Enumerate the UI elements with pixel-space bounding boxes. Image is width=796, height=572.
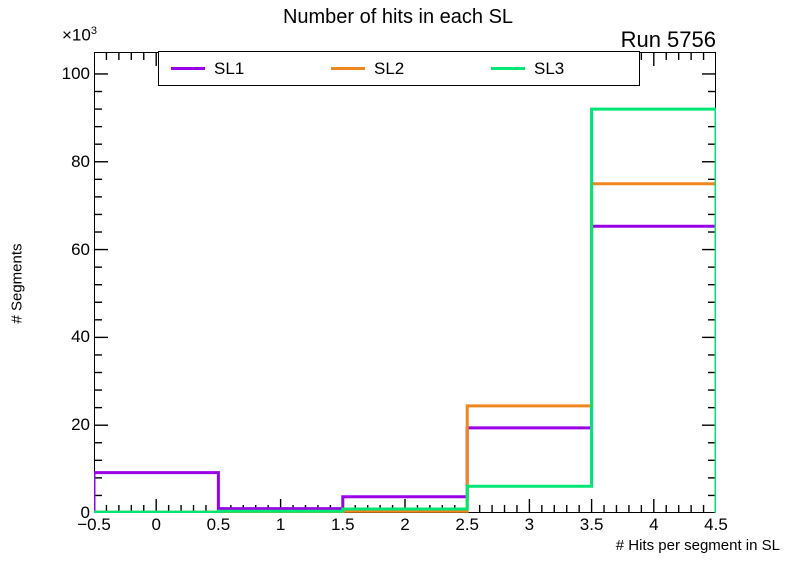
x-tick-label: 2.5 xyxy=(455,515,479,535)
x-tick-label: 4 xyxy=(649,515,658,535)
y-tick-label-group: 020406080100 xyxy=(42,52,90,513)
legend-entry-sl1[interactable]: SL1 xyxy=(159,59,319,79)
x-tick-label: 3 xyxy=(525,515,534,535)
x-tick-label: 0.5 xyxy=(207,515,231,535)
x-tick-label: 0 xyxy=(151,515,160,535)
y-tick-label: 20 xyxy=(46,415,90,435)
legend-line-swatch-icon xyxy=(331,67,365,70)
x-tick-label: 2 xyxy=(400,515,409,535)
series-layer xyxy=(94,109,716,513)
x-tick-label-group: −0.500.511.522.533.544.5 xyxy=(94,515,716,539)
x-tick-label: 4.5 xyxy=(704,515,728,535)
y-axis-exponent: ×103 xyxy=(62,25,97,46)
x-tick-label: 3.5 xyxy=(580,515,604,535)
axis-ticks-layer xyxy=(94,52,716,513)
legend-line-swatch-icon xyxy=(491,67,525,70)
legend-line-swatch-icon xyxy=(171,67,205,70)
histogram-step-sl3 xyxy=(94,109,716,513)
histogram-step-sl1 xyxy=(94,226,716,513)
chart-title: Number of hits in each SL xyxy=(0,6,796,29)
x-tick-label: 1 xyxy=(276,515,285,535)
plot-area xyxy=(94,52,716,513)
y-axis-exponent-base: ×10 xyxy=(62,26,91,45)
y-axis-title-text: # Segments xyxy=(9,243,26,323)
y-tick-label: 80 xyxy=(46,152,90,172)
y-tick-label: 40 xyxy=(46,327,90,347)
chart-canvas: Number of hits in each SL Run 5756 # Seg… xyxy=(0,0,796,572)
x-axis-title: # Hits per segment in SL xyxy=(616,537,780,554)
y-axis-exponent-power: 3 xyxy=(91,25,97,37)
histogram-step-sl2 xyxy=(94,184,716,513)
legend-label: SL2 xyxy=(374,59,404,79)
legend[interactable]: SL1SL2SL3 xyxy=(158,51,640,86)
y-axis-title: # Segments xyxy=(6,52,28,514)
legend-label: SL3 xyxy=(534,59,564,79)
y-tick-label: 100 xyxy=(46,64,90,84)
legend-entry-sl3[interactable]: SL3 xyxy=(479,59,639,79)
legend-entry-sl2[interactable]: SL2 xyxy=(319,59,479,79)
x-tick-label: 1.5 xyxy=(331,515,355,535)
legend-label: SL1 xyxy=(214,59,244,79)
run-annotation-label: Run 5756 xyxy=(621,27,716,53)
y-tick-label: 60 xyxy=(46,240,90,260)
x-tick-label: −0.5 xyxy=(77,515,111,535)
